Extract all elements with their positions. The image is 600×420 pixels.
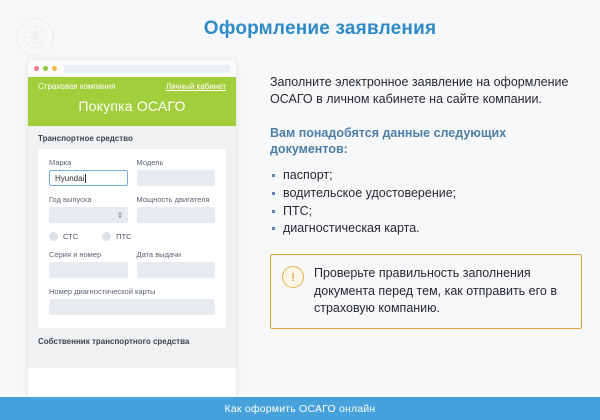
site-header-title: Покупка ОСАГО <box>38 98 226 114</box>
model-input[interactable] <box>137 170 216 186</box>
form-row-series-date: Серия и номер Дата выдачи <box>49 250 215 278</box>
field-model: Модель <box>137 158 216 186</box>
exclamation-circle-icon <box>282 266 304 288</box>
radio-pts-circle-icon <box>102 232 111 241</box>
field-issue-date: Дата выдачи <box>137 250 216 278</box>
list-item: ПТС; <box>270 203 582 221</box>
address-bar[interactable] <box>64 65 230 73</box>
year-stepper-icon[interactable] <box>118 212 122 219</box>
field-year: Год выпуска <box>49 195 128 223</box>
field-series: Серия и номер <box>49 250 128 278</box>
field-year-label: Год выпуска <box>49 195 128 204</box>
radio-sts-circle-icon <box>49 232 58 241</box>
form-row-year-power: Год выпуска Мощность двигателя <box>49 195 215 223</box>
site-body-filler <box>28 346 236 368</box>
field-brand: Марка Hyundai <box>49 158 128 186</box>
warning-callout-text: Проверьте правильность заполнения докуме… <box>314 265 569 318</box>
maximize-dot-icon[interactable] <box>52 66 57 71</box>
window-controls <box>34 66 57 71</box>
page-title: Оформление заявления <box>0 18 600 40</box>
diagnostic-card-input[interactable] <box>49 299 215 315</box>
brand-input[interactable]: Hyundai <box>49 170 128 186</box>
vehicle-form-card: Марка Hyundai Модель Год выпуска <box>38 149 226 328</box>
form-row-brand-model: Марка Hyundai Модель <box>49 158 215 186</box>
field-power: Мощность двигателя <box>137 195 216 223</box>
site-body: Транспортное средство Марка Hyundai Моде… <box>28 126 236 328</box>
year-input[interactable] <box>49 207 128 223</box>
list-item: паспорт; <box>270 167 582 185</box>
field-issue-date-label: Дата выдачи <box>137 250 216 259</box>
field-model-label: Модель <box>137 158 216 167</box>
site-header: Страховая компания Личный кабинет Покупк… <box>28 77 236 126</box>
browser-mockup: Страховая компания Личный кабинет Покупк… <box>28 60 236 398</box>
footer-title: Как оформить ОСАГО онлайн <box>225 403 376 415</box>
power-input[interactable] <box>137 207 216 223</box>
warning-callout: Проверьте правильность заполнения докуме… <box>270 254 582 329</box>
radio-pts-label: ПТС <box>116 232 131 241</box>
content-column: Заполните электронное заявление на оформ… <box>270 74 582 329</box>
radio-pts[interactable]: ПТС <box>102 232 131 241</box>
document-type-radio-group: СТС ПТС <box>49 232 215 241</box>
personal-cabinet-link[interactable]: Личный кабинет <box>166 82 226 91</box>
documents-list: паспорт; водительское удостоверение; ПТС… <box>270 167 582 238</box>
footer-bar: Как оформить ОСАГО онлайн <box>0 397 600 420</box>
section-vehicle-label: Транспортное средство <box>38 134 226 143</box>
text-caret <box>85 174 86 183</box>
field-power-label: Мощность двигателя <box>137 195 216 204</box>
radio-sts[interactable]: СТС <box>49 232 78 241</box>
browser-chrome-bar <box>28 60 236 77</box>
minimize-dot-icon[interactable] <box>43 66 48 71</box>
field-series-label: Серия и номер <box>49 250 128 259</box>
site-brand: Страховая компания <box>38 82 115 91</box>
section-owner-label: Собственник транспортного средства <box>28 328 236 346</box>
list-item: водительское удостоверение; <box>270 185 582 203</box>
close-dot-icon[interactable] <box>34 66 39 71</box>
issue-date-input[interactable] <box>137 262 216 278</box>
documents-subheading: Вам понадобятся данные следующих докумен… <box>270 125 582 159</box>
intro-paragraph: Заполните электронное заявление на оформ… <box>270 74 582 109</box>
field-diagnostic-card: Номер диагностической карты <box>49 287 215 315</box>
list-item: диагностическая карта. <box>270 220 582 238</box>
brand-input-value: Hyundai <box>55 174 84 183</box>
field-brand-label: Марка <box>49 158 128 167</box>
field-diagnostic-card-label: Номер диагностической карты <box>49 287 215 296</box>
radio-sts-label: СТС <box>63 232 78 241</box>
series-input[interactable] <box>49 262 128 278</box>
